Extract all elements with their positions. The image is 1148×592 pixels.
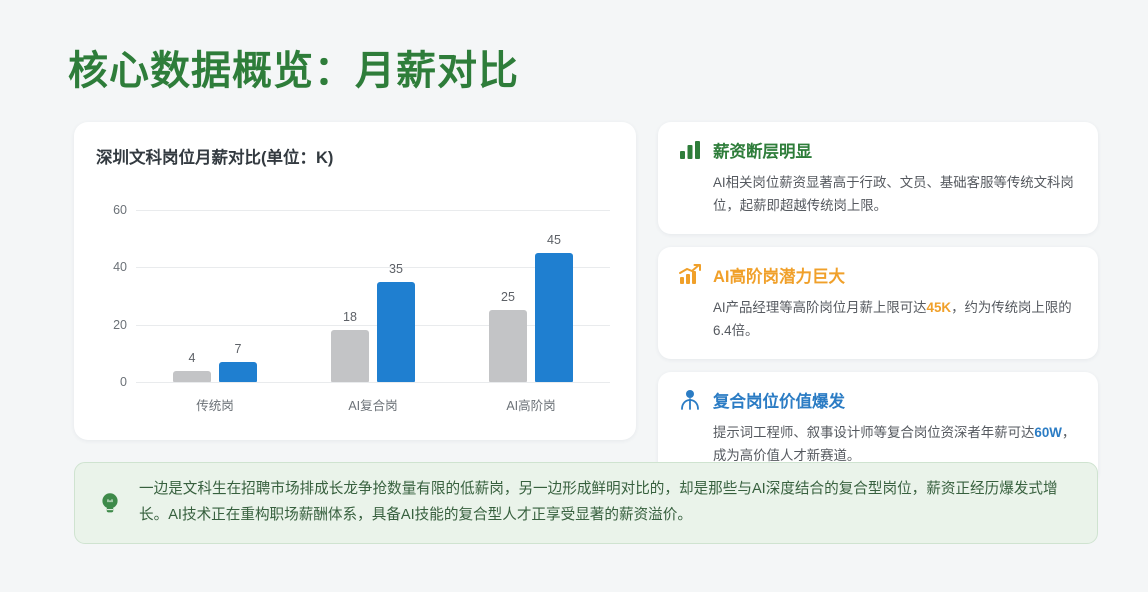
slide-root: 核心数据概览：月薪对比 深圳文科岗位月薪对比(单位：K) 020406047传统… (0, 0, 1148, 592)
bar-lower-bound[interactable] (489, 310, 527, 382)
bar-value-label: 7 (235, 342, 242, 356)
insight-card-body: 提示词工程师、叙事设计师等复合岗位资深者年薪可达60W，成为高价值人才新赛道。 (713, 421, 1078, 467)
bar-upper-bound[interactable] (535, 253, 573, 382)
bar-group: 2545AI高阶岗 (452, 210, 610, 382)
bar-column: 25 (489, 210, 527, 382)
insight-card-title: 复合岗位价值爆发 (713, 388, 845, 412)
bar-groups: 47传统岗1835AI复合岗2545AI高阶岗 (136, 210, 610, 382)
bar-value-label: 45 (547, 233, 561, 247)
insight-card[interactable]: 薪资断层明显AI相关岗位薪资显著高于行政、文员、基础客服等传统文科岗位，起薪即超… (658, 122, 1098, 234)
person-icon (678, 388, 702, 412)
highlight-value: 45K (927, 300, 952, 315)
bar-column: 7 (219, 210, 257, 382)
y-axis-tick-label: 20 (113, 318, 127, 332)
insight-card[interactable]: AI高阶岗潜力巨大AI产品经理等高阶岗位月薪上限可达45K，约为传统岗上限的6.… (658, 247, 1098, 359)
bar-column: 18 (331, 210, 369, 382)
lightbulb-icon (97, 490, 123, 516)
insight-card-body: AI相关岗位薪资显著高于行政、文员、基础客服等传统文科岗位，起薪即超越传统岗上限… (713, 171, 1078, 217)
y-axis-tick-label: 40 (113, 260, 127, 274)
bar-value-label: 4 (189, 351, 196, 365)
y-axis-tick-label: 60 (113, 203, 127, 217)
bar-group: 1835AI复合岗 (294, 210, 452, 382)
x-axis-category-label: AI复合岗 (348, 395, 397, 414)
summary-banner-text: 一边是文科生在招聘市场排成长龙争抢数量有限的低薪岗，另一边形成鲜明对比的，却是那… (139, 477, 1075, 529)
x-axis-category-label: 传统岗 (196, 395, 234, 414)
bar-column: 45 (535, 210, 573, 382)
bar-lower-bound[interactable] (173, 371, 211, 382)
y-axis-tick-label: 0 (120, 375, 127, 389)
bar-upper-bound[interactable] (219, 362, 257, 382)
bar-group: 47传统岗 (136, 210, 294, 382)
insight-card-body: AI产品经理等高阶岗位月薪上限可达45K，约为传统岗上限的6.4倍。 (713, 296, 1078, 342)
x-axis-category-label: AI高阶岗 (506, 395, 555, 414)
insight-card-list: 薪资断层明显AI相关岗位薪资显著高于行政、文员、基础客服等传统文科岗位，起薪即超… (658, 122, 1098, 497)
chart-panel: 深圳文科岗位月薪对比(单位：K) 020406047传统岗1835AI复合岗25… (74, 122, 636, 440)
body-text: AI产品经理等高阶岗位月薪上限可达 (713, 300, 927, 315)
y-gridline: 0 (136, 382, 610, 383)
bar-lower-bound[interactable] (331, 330, 369, 382)
bar-chart-plot: 020406047传统岗1835AI复合岗2545AI高阶岗 (136, 210, 610, 382)
insight-card-header: AI高阶岗潜力巨大 (678, 263, 1078, 287)
bar-column: 35 (377, 210, 415, 382)
highlight-value: 60W (1034, 425, 1062, 440)
page-title: 核心数据概览：月薪对比 (68, 38, 519, 96)
bar-chart-icon (678, 138, 702, 162)
summary-banner: 一边是文科生在招聘市场排成长龙争抢数量有限的低薪岗，另一边形成鲜明对比的，却是那… (74, 462, 1098, 544)
chart-title: 深圳文科岗位月薪对比(单位：K) (96, 144, 333, 168)
bar-column: 4 (173, 210, 211, 382)
bar-value-label: 35 (389, 262, 403, 276)
insight-card-header: 复合岗位价值爆发 (678, 388, 1078, 412)
body-text: 提示词工程师、叙事设计师等复合岗位资深者年薪可达 (713, 425, 1034, 440)
insight-card-title: 薪资断层明显 (713, 138, 812, 162)
bar-upper-bound[interactable] (377, 282, 415, 382)
body-text: AI相关岗位薪资显著高于行政、文员、基础客服等传统文科岗位，起薪即超越传统岗上限… (713, 175, 1074, 213)
bar-value-label: 25 (501, 290, 515, 304)
bar-value-label: 18 (343, 310, 357, 324)
insight-card-title: AI高阶岗潜力巨大 (713, 263, 845, 287)
insight-card-header: 薪资断层明显 (678, 138, 1078, 162)
trending-up-icon (678, 263, 702, 287)
